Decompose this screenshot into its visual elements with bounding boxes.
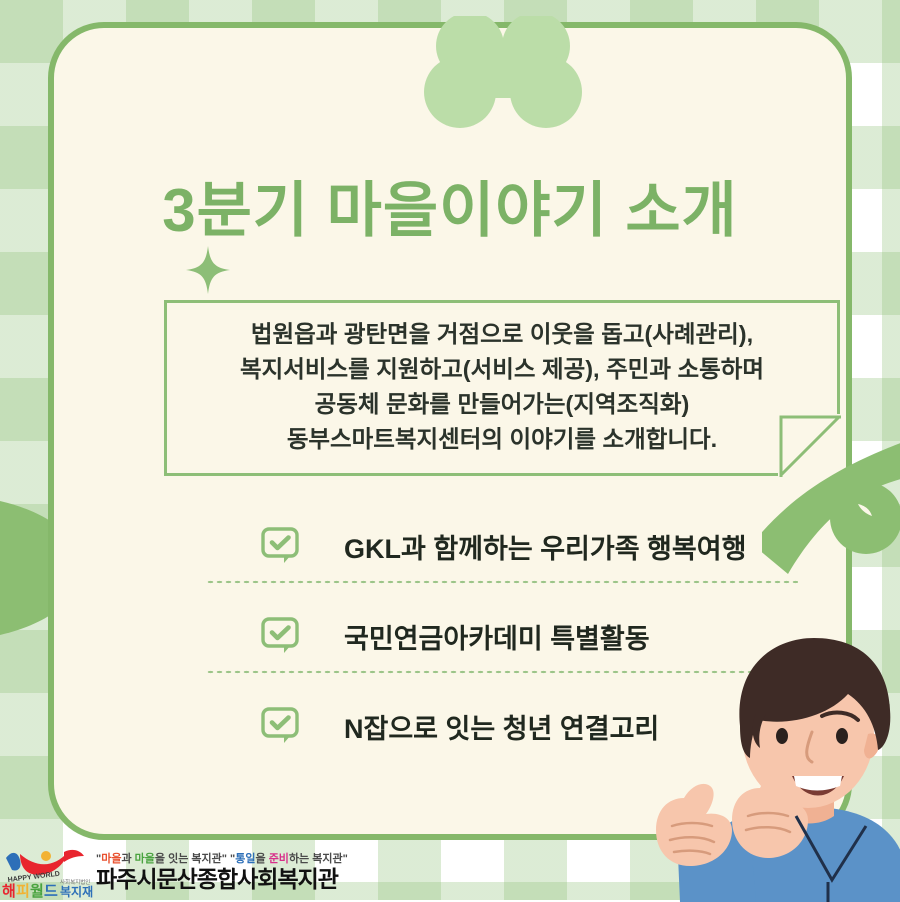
description-box: 법원읍과 광탄면을 거점으로 이웃을 돕고(사례관리), 복지서비스를 지원하고…: [164, 300, 840, 476]
four-point-sparkle-icon: [186, 246, 230, 294]
green-vine-curl-decoration: [762, 424, 900, 622]
footer: HAPPY WORLD 해 피 월 드 사회복지법인 복지재단 "마을과 마을을…: [0, 840, 900, 900]
description-line: 복지서비스를 지원하고(서비스 제공), 주민과 소통하며: [167, 352, 837, 387]
svg-text:월: 월: [30, 883, 44, 898]
organization-name: 파주시문산종합사회복지관: [96, 860, 338, 894]
svg-text:복지재단: 복지재단: [60, 884, 94, 898]
description-text: 법원읍과 광탄면을 거점으로 이웃을 돕고(사례관리), 복지서비스를 지원하고…: [167, 317, 837, 457]
list-item-label: GKL과 함께하는 우리가족 행복여행: [344, 527, 746, 566]
list-item[interactable]: GKL과 함께하는 우리가족 행복여행: [204, 518, 804, 574]
speech-bubble-check-icon: [260, 616, 300, 656]
description-line: 법원읍과 광탄면을 거점으로 이웃을 돕고(사례관리),: [167, 317, 837, 352]
page-title: 3분기 마을이야기 소개: [54, 162, 846, 249]
description-line: 동부스마트복지센터의 이야기를 소개합니다.: [167, 422, 837, 457]
speech-bubble-check-icon: [260, 706, 300, 746]
happy-world-logo: HAPPY WORLD 해 피 월 드 사회복지법인 복지재단: [2, 846, 94, 898]
tagline-quote-close-2: ": [343, 853, 348, 865]
description-line: 공동체 문화를 만들어가는(지역조직화): [167, 387, 837, 422]
speech-bubble-check-icon: [260, 526, 300, 566]
svg-text:해: 해: [2, 883, 16, 898]
clover-leaf-decoration: [408, 16, 598, 128]
list-divider: [206, 580, 798, 584]
svg-text:피: 피: [16, 883, 30, 898]
svg-text:드: 드: [44, 883, 58, 898]
